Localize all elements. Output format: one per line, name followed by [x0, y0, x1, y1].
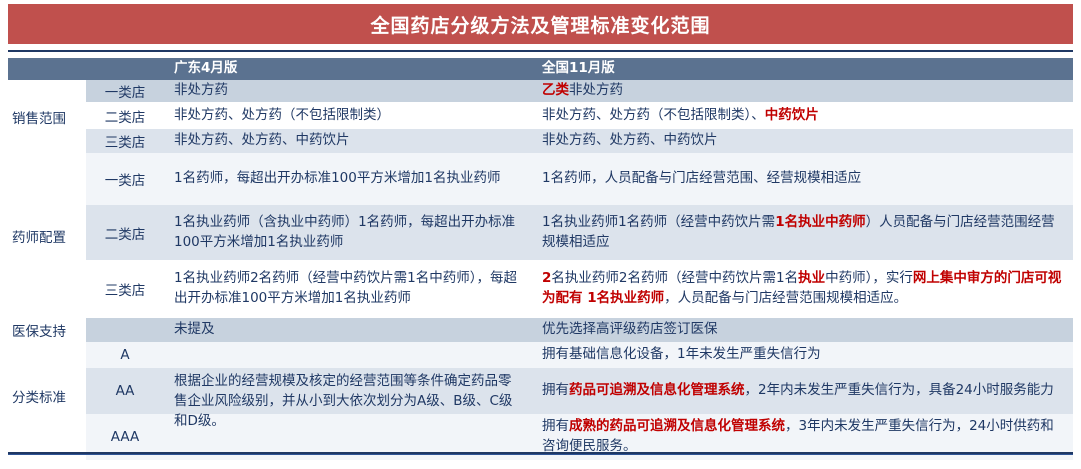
table-row: 一类店 非处方药 乙类非处方药 — [86, 80, 1073, 102]
row-value-national: 拥有药品可追溯及信息化管理系统，2年内未发生严重失信行为，具备24小时服务能力 — [532, 368, 1073, 414]
bottom-divider-accent — [8, 454, 1073, 455]
row-subcategory: 三类店 — [86, 129, 164, 153]
header-col-guangdong: 广东4月版 — [164, 58, 532, 80]
row-value-guangdong: 未提及 — [164, 318, 532, 342]
row-value-guangdong: 1名执业药师2名药师（经营中药饮片需1名中药师），每超出开办标准100平方米增加… — [164, 260, 532, 318]
highlighted-text: 中药饮片 — [765, 107, 819, 123]
title-banner: 全国药店分级方法及管理标准变化范围 — [8, 4, 1073, 44]
table-row: 三类店 1名执业药师2名药师（经营中药饮片需1名中药师），每超出开办标准100平… — [86, 260, 1073, 318]
classification-standard-description: 根据企业的经营规模及核定的经营范围等条件确定药品零售企业风险级别，并从小到大依次… — [164, 342, 532, 460]
row-value-national: 非处方药、处方药（不包括限制类）、中药饮片 — [532, 102, 1073, 129]
plain-text: 中药师），实行 — [825, 270, 913, 286]
plain-text: 1名药师，人员配备与门店经营范围、经营规模相适应 — [542, 170, 861, 186]
plain-text: 拥有 — [542, 418, 569, 434]
row-value-national: 1名药师，人员配备与门店经营范围、经营规模相适应 — [532, 153, 1073, 205]
section-sales-scope: 销售范围 一类店 非处方药 乙类非处方药 二类店 非处方药、处方药（不包括限制类… — [8, 80, 1073, 153]
section-pharmacist-config: 药师配置 一类店 1名药师，每超出开办标准100平方米增加1名执业药师 1名药师… — [8, 153, 1073, 318]
section-label-classification-standard: 分类标准 — [8, 342, 86, 450]
row-subcategory — [86, 318, 164, 342]
row-value-guangdong: 非处方药、处方药（不包括限制类） — [164, 102, 532, 129]
table-row: 未提及 优先选择高评级药店签订医保 — [86, 318, 1073, 342]
row-subcategory: AA — [86, 368, 164, 414]
plain-text: 非处方药 — [569, 82, 623, 98]
highlighted-text: 1名执业中药师 — [775, 214, 865, 230]
row-subcategory: 二类店 — [86, 205, 164, 260]
row-value-national: 1名执业药师1名药师（经营中药饮片需1名执业中药师）人员配备与门店经营范围经营规… — [532, 205, 1073, 260]
section-classification-standard: 分类标准 A 拥有基础信息化设备，1年未发生严重失信行为 AA 拥有药品可追溯及… — [8, 342, 1073, 460]
plain-text: ，人员配备与门店经营范围规模相适应。 — [664, 290, 907, 306]
plain-text: 非处方药、处方药（不包括限制类）、 — [542, 107, 765, 123]
row-subcategory: 三类店 — [86, 260, 164, 318]
row-value-national: 非处方药、处方药、中药饮片 — [532, 129, 1073, 153]
row-value-guangdong: 1名药师，每超出开办标准100平方米增加1名执业药师 — [164, 153, 532, 205]
comparison-table: 广东4月版 全国11月版 销售范围 一类店 非处方药 乙类非处方药 二类店 非处… — [8, 58, 1073, 460]
table-row: 三类店 非处方药、处方药、中药饮片 非处方药、处方药、中药饮片 — [86, 129, 1073, 153]
section-label-sales-scope: 销售范围 — [8, 80, 86, 153]
row-subcategory: 一类店 — [86, 153, 164, 205]
plain-text: 优先选择高评级药店签订医保 — [542, 321, 718, 337]
row-value-national: 2名执业药师2名药师（经营中药饮片需1名执业中药师），实行网上集中审方的门店可视… — [532, 260, 1073, 318]
section-label-insurance-support: 医保支持 — [8, 318, 86, 342]
plain-text: 1名执业药师1名药师（经营中药饮片需 — [542, 214, 775, 230]
plain-text: 拥有 — [542, 382, 569, 398]
section-label-pharmacist-config: 药师配置 — [8, 153, 86, 318]
highlighted-text: 执业 — [798, 270, 825, 286]
highlighted-text: 成熟的药品可追溯及信息化管理系统 — [569, 418, 785, 434]
row-value-national: 乙类非处方药 — [532, 80, 1073, 102]
highlighted-text: 2 — [542, 270, 551, 286]
highlighted-text: 药品可追溯及信息化管理系统 — [569, 382, 745, 398]
plain-text: ，2年内未发生严重失信行为，具备24小时服务能力 — [745, 382, 1054, 398]
title-divider — [8, 50, 1073, 52]
row-value-national: 拥有基础信息化设备，1年未发生严重失信行为 — [532, 342, 1073, 368]
header-category-cell — [8, 58, 86, 80]
table-row: 二类店 1名执业药师（含执业中药师）1名药师，每超出开办标准100平方米增加1名… — [86, 205, 1073, 260]
plain-text: 名执业药师2名药师（经营中药饮片需1名 — [551, 270, 798, 286]
page-title: 全国药店分级方法及管理标准变化范围 — [370, 11, 710, 38]
header-subcategory-cell — [86, 58, 164, 80]
row-value-guangdong: 1名执业药师（含执业中药师）1名药师，每超出开办标准100平方米增加1名执业药师 — [164, 205, 532, 260]
row-subcategory: 一类店 — [86, 80, 164, 102]
table-row: 一类店 1名药师，每超出开办标准100平方米增加1名执业药师 1名药师，人员配备… — [86, 153, 1073, 205]
plain-text: 非处方药、处方药、中药饮片 — [542, 132, 718, 148]
section-insurance-support: 医保支持 未提及 优先选择高评级药店签订医保 — [8, 318, 1073, 342]
table-header-row: 广东4月版 全国11月版 — [8, 58, 1073, 80]
row-value-guangdong: 非处方药 — [164, 80, 532, 102]
row-subcategory: A — [86, 342, 164, 368]
row-value-guangdong: 非处方药、处方药、中药饮片 — [164, 129, 532, 153]
table-row: 二类店 非处方药、处方药（不包括限制类） 非处方药、处方药（不包括限制类）、中药… — [86, 102, 1073, 129]
header-col-national: 全国11月版 — [532, 58, 1073, 80]
plain-text: 拥有基础信息化设备，1年未发生严重失信行为 — [542, 346, 821, 362]
highlighted-text: 乙类 — [542, 82, 569, 98]
row-subcategory: 二类店 — [86, 102, 164, 129]
row-value-national: 优先选择高评级药店签订医保 — [532, 318, 1073, 342]
